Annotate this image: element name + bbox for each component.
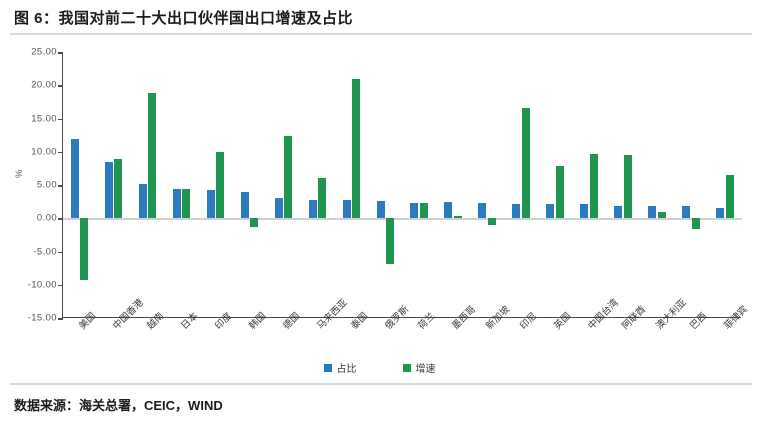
bar-growth[interactable] <box>488 218 496 225</box>
bar-group <box>504 52 538 318</box>
bar-share[interactable] <box>580 204 588 218</box>
y-axis-tick-label: -15.00 <box>7 313 57 324</box>
y-axis-tick-label: -10.00 <box>7 279 57 290</box>
legend-label: 占比 <box>337 360 357 375</box>
bar-group <box>470 52 504 318</box>
x-axis-labels: 美国中国香港越南日本印度韩国德国马来西亚泰国俄罗斯荷兰墨西哥新加坡印尼英国中国台… <box>62 318 741 364</box>
bar-series-container <box>63 52 742 318</box>
bar-growth[interactable] <box>284 136 292 218</box>
bar-growth[interactable] <box>148 93 156 218</box>
bar-share[interactable] <box>648 206 656 219</box>
plot-area: 25.0020.0015.0010.005.000.00-5.00-10.00-… <box>62 52 741 318</box>
bar-share[interactable] <box>512 204 520 219</box>
footer-divider <box>10 383 752 385</box>
bar-share[interactable] <box>343 200 351 219</box>
bar-growth[interactable] <box>420 203 428 218</box>
y-axis-tick-label: 20.00 <box>7 80 57 91</box>
bar-group <box>301 52 335 318</box>
bar-group <box>708 52 742 318</box>
bar-growth[interactable] <box>216 152 224 219</box>
bar-group <box>403 52 437 318</box>
bar-group <box>538 52 572 318</box>
data-source-note: 数据来源：海关总署，CEIC，WIND <box>14 395 223 414</box>
bar-growth[interactable] <box>692 218 700 229</box>
bar-group <box>97 52 131 318</box>
legend-label: 增速 <box>416 360 436 375</box>
bar-share[interactable] <box>207 190 215 218</box>
bar-share[interactable] <box>614 206 622 219</box>
bar-group <box>436 52 470 318</box>
square-swatch-blue-icon <box>324 364 332 372</box>
bar-share[interactable] <box>377 201 385 218</box>
bar-group <box>199 52 233 318</box>
bar-group <box>606 52 640 318</box>
chart-page: 图 6：我国对前二十大出口伙伴国出口增速及占比 % 25.0020.0015.0… <box>0 0 759 423</box>
chart-legend: 占比增速 <box>0 360 759 375</box>
bar-share[interactable] <box>139 184 147 219</box>
bar-share[interactable] <box>309 200 317 219</box>
bar-share[interactable] <box>173 189 181 218</box>
bar-growth[interactable] <box>250 218 258 227</box>
bar-growth[interactable] <box>454 216 462 219</box>
bar-growth[interactable] <box>658 212 666 219</box>
bar-share[interactable] <box>241 192 249 219</box>
bar-share[interactable] <box>275 198 283 219</box>
bar-group <box>63 52 97 318</box>
bar-growth[interactable] <box>590 154 598 218</box>
bar-growth[interactable] <box>352 79 360 219</box>
bar-group <box>335 52 369 318</box>
bar-group <box>165 52 199 318</box>
y-axis-title: % <box>14 170 25 178</box>
square-swatch-green-icon <box>403 364 411 372</box>
bar-share[interactable] <box>546 204 554 218</box>
bar-group <box>267 52 301 318</box>
bar-group <box>572 52 606 318</box>
legend-item[interactable]: 占比 <box>324 360 357 375</box>
bar-growth[interactable] <box>386 218 394 264</box>
bar-group <box>131 52 165 318</box>
bar-growth[interactable] <box>726 175 734 218</box>
bar-share[interactable] <box>478 203 486 218</box>
bar-share[interactable] <box>444 202 452 218</box>
bar-growth[interactable] <box>624 155 632 218</box>
bar-group <box>640 52 674 318</box>
bar-group <box>233 52 267 318</box>
bar-growth[interactable] <box>182 189 190 218</box>
y-axis-tick-label: 0.00 <box>7 213 57 224</box>
y-axis-tick-label: 25.00 <box>7 47 57 58</box>
bar-group <box>369 52 403 318</box>
bar-share[interactable] <box>410 203 418 218</box>
y-axis-tick-label: 10.00 <box>7 146 57 157</box>
bar-share[interactable] <box>71 139 79 218</box>
y-axis-tick-label: 5.00 <box>7 180 57 191</box>
bar-share[interactable] <box>105 162 113 218</box>
bar-group <box>674 52 708 318</box>
bar-share[interactable] <box>716 208 724 218</box>
page-title: 图 6：我国对前二十大出口伙伴国出口增速及占比 <box>14 7 353 28</box>
bar-growth[interactable] <box>318 178 326 218</box>
y-axis-tick-label: -5.00 <box>7 246 57 257</box>
y-axis-tick-label: 15.00 <box>7 113 57 124</box>
bar-growth[interactable] <box>114 159 122 218</box>
chart-title-bar: 图 6：我国对前二十大出口伙伴国出口增速及占比 <box>0 0 759 34</box>
bar-growth[interactable] <box>80 218 88 280</box>
bar-share[interactable] <box>682 206 690 218</box>
legend-item[interactable]: 增速 <box>403 360 436 375</box>
bar-growth[interactable] <box>556 166 564 218</box>
bar-growth[interactable] <box>522 108 530 218</box>
title-divider <box>10 33 752 35</box>
chart-footer: 数据来源：海关总署，CEIC，WIND <box>0 386 759 423</box>
